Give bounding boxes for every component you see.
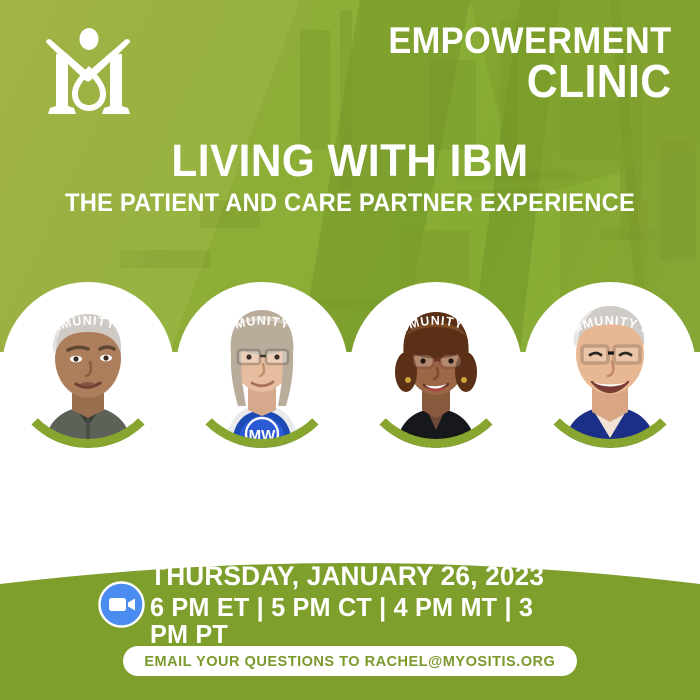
portrait-photo-3 [530,288,690,448]
avatar [8,288,168,448]
avatar [530,288,690,448]
zoom-video-icon[interactable] [98,581,145,628]
avatar: MW [182,288,342,448]
poster-canvas: EMPOWERMENT CLINIC LIVING WITH IBM THE P… [0,0,700,700]
speaker-card-3: TMA COMMUNITY MEMBER JAMES SZUDZIK “SUDZ… [530,288,690,448]
event-times: 6 PM ET | 5 PM CT | 4 PM MT | 3 PM PT [150,594,567,649]
email-cta-button[interactable]: EMAIL YOUR QUESTIONS TO RACHEL@MYOSITIS.… [123,646,577,676]
portrait-photo-0 [8,288,168,448]
avatar [356,288,516,448]
speaker-card-2: TMA COMMUNITY MEMBER CYNTHIA MARKS CARE … [356,288,516,448]
event-datetime: THURSDAY, JANUARY 26, 2023 6 PM ET | 5 P… [150,562,580,649]
event-date: THURSDAY, JANUARY 26, 2023 [150,562,567,591]
speakers-row: TMA COMMUNITY MEMBER JOSEPH SANCHEZ “MYO… [0,0,700,540]
speaker-card-0: TMA COMMUNITY MEMBER JOSEPH SANCHEZ “MYO… [8,288,168,448]
svg-text:MW: MW [249,427,276,444]
portrait-photo-1: MW [182,288,342,448]
email-cta-label: EMAIL YOUR QUESTIONS TO RACHEL@MYOSITIS.… [145,653,556,670]
portrait-photo-2 [356,288,516,448]
speaker-card-1: MW [182,288,342,448]
